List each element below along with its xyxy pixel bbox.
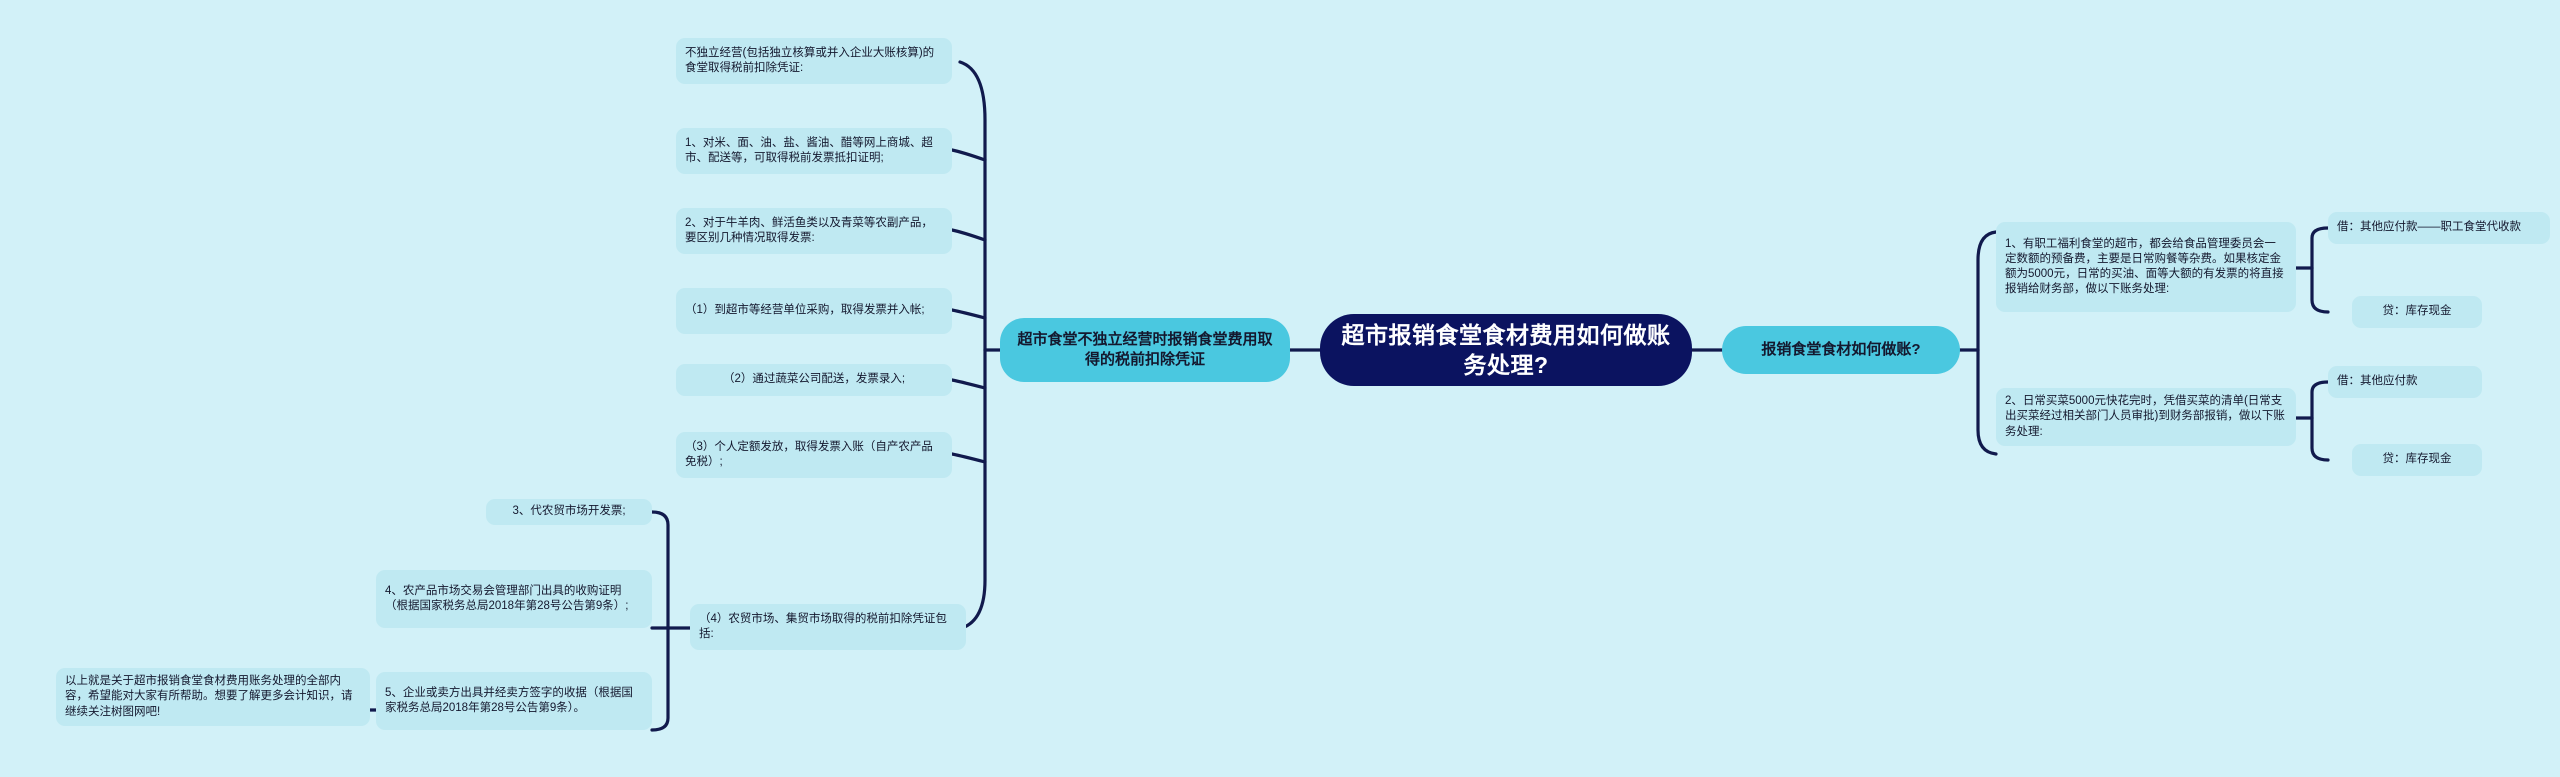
leaf-text-l1: 不独立经营(包括独立核算或并入企业大账核算)的食堂取得税前扣除凭证:: [685, 46, 943, 76]
leaf-text-l8: 3、代农贸市场开发票;: [495, 504, 643, 519]
leaf-node-r2-credit[interactable]: 贷：库存现金: [2352, 444, 2482, 476]
leaf-node-l2[interactable]: 1、对米、面、油、盐、酱油、醋等网上商城、超市、配送等，可取得税前发票抵扣证明;: [676, 128, 952, 174]
leaf-text-l3: 2、对于牛羊肉、鲜活鱼类以及青菜等农副产品，要区别几种情况取得发票:: [685, 216, 943, 246]
leaf-text-l10: 5、企业或卖方出具并经卖方签字的收据（根据国家税务总局2018年第28号公告第9…: [385, 686, 643, 716]
leaf-node-l6[interactable]: （3）个人定额发放，取得发票入账（自产农产品免税）;: [676, 432, 952, 478]
leaf-text-r2: 2、日常买菜5000元快花完时，凭借买菜的清单(日常支出买菜经过相关部门人员审批…: [2005, 394, 2287, 440]
leaf-node-l7[interactable]: （4）农贸市场、集贸市场取得的税前扣除凭证包括:: [690, 604, 966, 650]
branch-node-left[interactable]: 超市食堂不独立经营时报销食堂费用取得的税前扣除凭证: [1000, 318, 1290, 382]
leaf-text-r1: 1、有职工福利食堂的超市，都会给食品管理委员会一定数额的预备费，主要是日常购餐等…: [2005, 237, 2287, 298]
leaf-text-r1-debit: 借：其他应付款——职工食堂代收款: [2337, 220, 2541, 235]
mindmap-canvas: 超市报销食堂食材费用如何做账务处理? 超市食堂不独立经营时报销食堂费用取得的税前…: [0, 0, 2560, 777]
root-node[interactable]: 超市报销食堂食材费用如何做账务处理?: [1320, 314, 1692, 386]
leaf-node-summary[interactable]: 以上就是关于超市报销食堂食材费用账务处理的全部内容，希望能对大家有所帮助。想要了…: [56, 668, 370, 726]
leaf-node-r2-debit[interactable]: 借：其他应付款: [2328, 366, 2482, 398]
leaf-text-r2-debit: 借：其他应付款: [2337, 374, 2473, 389]
leaf-node-l1[interactable]: 不独立经营(包括独立核算或并入企业大账核算)的食堂取得税前扣除凭证:: [676, 38, 952, 84]
leaf-text-l7: （4）农贸市场、集贸市场取得的税前扣除凭证包括:: [699, 612, 957, 642]
leaf-text-r2-credit: 贷：库存现金: [2361, 452, 2473, 467]
leaf-node-l10[interactable]: 5、企业或卖方出具并经卖方签字的收据（根据国家税务总局2018年第28号公告第9…: [376, 672, 652, 730]
leaf-node-r1-debit[interactable]: 借：其他应付款——职工食堂代收款: [2328, 212, 2550, 244]
leaf-node-l3[interactable]: 2、对于牛羊肉、鲜活鱼类以及青菜等农副产品，要区别几种情况取得发票:: [676, 208, 952, 254]
leaf-text-summary: 以上就是关于超市报销食堂食材费用账务处理的全部内容，希望能对大家有所帮助。想要了…: [65, 674, 361, 720]
leaf-node-r1[interactable]: 1、有职工福利食堂的超市，都会给食品管理委员会一定数额的预备费，主要是日常购餐等…: [1996, 222, 2296, 312]
leaf-node-l5[interactable]: （2）通过蔬菜公司配送，发票录入;: [676, 364, 952, 396]
leaf-text-l4: （1）到超市等经营单位采购，取得发票并入帐;: [685, 303, 943, 318]
leaf-text-l6: （3）个人定额发放，取得发票入账（自产农产品免税）;: [685, 440, 943, 470]
leaf-text-l2: 1、对米、面、油、盐、酱油、醋等网上商城、超市、配送等，可取得税前发票抵扣证明;: [685, 136, 943, 166]
branch-node-right[interactable]: 报销食堂食材如何做账?: [1722, 326, 1960, 374]
leaf-node-r2[interactable]: 2、日常买菜5000元快花完时，凭借买菜的清单(日常支出买菜经过相关部门人员审批…: [1996, 388, 2296, 446]
leaf-text-l5: （2）通过蔬菜公司配送，发票录入;: [685, 372, 943, 387]
leaf-node-r1-credit[interactable]: 贷：库存现金: [2352, 296, 2482, 328]
leaf-node-l9[interactable]: 4、农产品市场交易会管理部门出具的收购证明（根据国家税务总局2018年第28号公…: [376, 570, 652, 628]
leaf-node-l8[interactable]: 3、代农贸市场开发票;: [486, 499, 652, 525]
leaf-text-r1-credit: 贷：库存现金: [2361, 304, 2473, 319]
leaf-text-l9: 4、农产品市场交易会管理部门出具的收购证明（根据国家税务总局2018年第28号公…: [385, 584, 643, 614]
leaf-node-l4[interactable]: （1）到超市等经营单位采购，取得发票并入帐;: [676, 288, 952, 334]
